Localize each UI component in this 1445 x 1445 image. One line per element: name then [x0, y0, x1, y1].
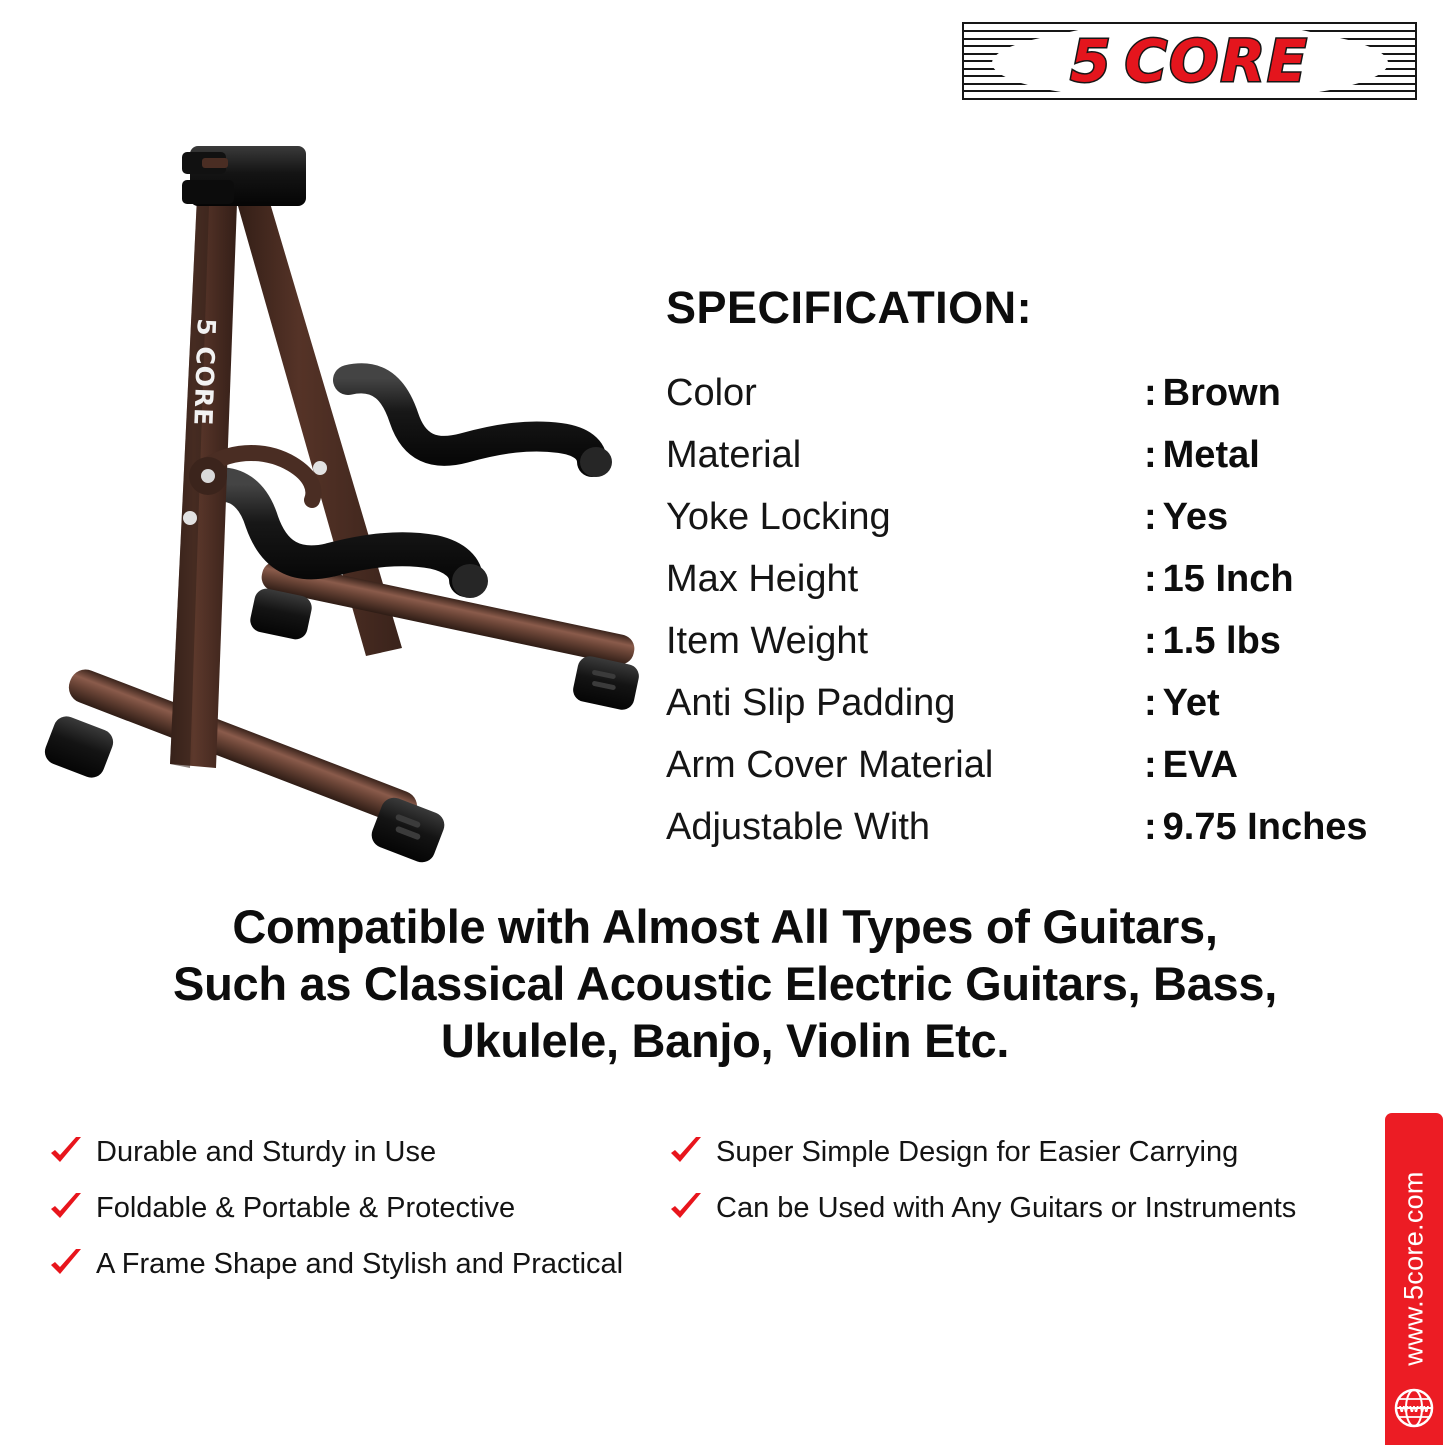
logo-text-core: CORE: [1125, 27, 1309, 95]
list-item: Super Simple Design for Easier Carrying: [668, 1124, 1358, 1180]
spec-value-text: Yes: [1163, 496, 1229, 538]
feature-text: Super Simple Design for Easier Carrying: [716, 1136, 1238, 1169]
list-item: Foldable & Portable & Protective: [48, 1180, 668, 1236]
spec-value-text: 9.75 Inches: [1163, 806, 1368, 848]
spec-value-text: Yet: [1163, 682, 1220, 724]
spec-value-item-weight: :1.5 lbs: [1144, 610, 1281, 672]
product-image: 5 CORE: [30, 118, 640, 863]
spec-label-item-weight: Item Weight: [666, 610, 868, 672]
infographic-page: 5CORE: [0, 0, 1445, 1445]
headline-line-3: Ukulele, Banjo, Violin Etc.: [60, 1012, 1390, 1069]
spec-separator: :: [1144, 496, 1157, 538]
check-icon: [668, 1192, 704, 1224]
website-url[interactable]: www.5core.com: [1399, 1171, 1430, 1365]
spec-value-text: Brown: [1163, 372, 1281, 414]
spec-value-text: 15 Inch: [1163, 558, 1294, 600]
spec-row: Arm Cover Material :EVA: [666, 734, 1436, 796]
spec-separator: :: [1144, 558, 1157, 600]
spec-separator: :: [1144, 434, 1157, 476]
spec-value-text: EVA: [1163, 744, 1238, 786]
spec-separator: :: [1144, 806, 1157, 848]
leg-brand-text: 5 CORE: [188, 318, 221, 427]
logo-staff-frame: 5CORE: [962, 22, 1417, 100]
list-item: Can be Used with Any Guitars or Instrume…: [668, 1180, 1358, 1236]
list-item: Durable and Sturdy in Use: [48, 1124, 668, 1180]
spec-row: Adjustable With :9.75 Inches: [666, 796, 1436, 858]
spec-value-arm-cover-material: :EVA: [1144, 734, 1238, 796]
spec-label-material: Material: [666, 424, 801, 486]
check-icon: [668, 1136, 704, 1168]
spec-row: Anti Slip Padding :Yet: [666, 672, 1436, 734]
spec-separator: :: [1144, 372, 1157, 414]
spec-label-color: Color: [666, 362, 757, 424]
brand-logo: 5CORE: [962, 22, 1417, 100]
spec-value-anti-slip-padding: :Yet: [1144, 672, 1220, 734]
support-tube: [248, 559, 640, 712]
yoke-cap: [182, 146, 306, 206]
spec-row: Yoke Locking :Yes: [666, 486, 1436, 548]
feature-list-right: Super Simple Design for Easier Carrying …: [668, 1124, 1358, 1236]
check-icon: [48, 1136, 84, 1168]
headline-line-2: Such as Classical Acoustic Electric Guit…: [60, 955, 1390, 1012]
spec-value-text: 1.5 lbs: [1163, 620, 1281, 662]
spec-separator: :: [1144, 682, 1157, 724]
spec-value-color: :Brown: [1144, 362, 1281, 424]
globe-icon: www: [1393, 1387, 1435, 1429]
spec-value-text: Metal: [1163, 434, 1260, 476]
spec-label-arm-cover-material: Arm Cover Material: [666, 734, 993, 796]
check-icon: [48, 1192, 84, 1224]
spec-label-yoke-locking: Yoke Locking: [666, 486, 891, 548]
website-tab[interactable]: www.5core.com www: [1385, 1113, 1443, 1445]
spec-label-adjustable-with: Adjustable With: [666, 796, 930, 858]
specification-block: SPECIFICATION: Color :Brown Material :Me…: [666, 282, 1436, 858]
feature-text: A Frame Shape and Stylish and Practical: [96, 1248, 623, 1281]
feature-text: Can be Used with Any Guitars or Instrume…: [716, 1192, 1296, 1225]
spec-row: Material :Metal: [666, 424, 1436, 486]
spec-value-adjustable-with: :9.75 Inches: [1144, 796, 1368, 858]
globe-www-label: www: [1399, 1402, 1430, 1415]
feature-text: Durable and Sturdy in Use: [96, 1136, 436, 1169]
feature-text: Foldable & Portable & Protective: [96, 1192, 515, 1225]
spec-row: Color :Brown: [666, 362, 1436, 424]
upper-support-arm: [348, 378, 592, 462]
check-icon: [48, 1248, 84, 1280]
logo-text-five: 5: [1070, 27, 1112, 95]
spec-label-anti-slip-padding: Anti Slip Padding: [666, 672, 955, 734]
guitar-stand-illustration: 5 CORE: [30, 118, 640, 863]
spec-value-yoke-locking: :Yes: [1144, 486, 1228, 548]
spec-row: Max Height :15 Inch: [666, 548, 1436, 610]
compatibility-headline: Compatible with Almost All Types of Guit…: [60, 898, 1390, 1069]
spec-separator: :: [1144, 744, 1157, 786]
base-tube-front: [41, 665, 448, 863]
feature-list-left: Durable and Sturdy in Use Foldable & Por…: [48, 1124, 668, 1292]
spec-label-max-height: Max Height: [666, 548, 858, 610]
spec-value-material: :Metal: [1144, 424, 1260, 486]
spec-row: Item Weight :1.5 lbs: [666, 610, 1436, 672]
spec-separator: :: [1144, 620, 1157, 662]
list-item: A Frame Shape and Stylish and Practical: [48, 1236, 668, 1292]
spec-value-max-height: :15 Inch: [1144, 548, 1294, 610]
specification-heading: SPECIFICATION:: [666, 282, 1436, 334]
logo-wordmark: 5CORE: [964, 27, 1415, 95]
headline-line-1: Compatible with Almost All Types of Guit…: [60, 898, 1390, 955]
